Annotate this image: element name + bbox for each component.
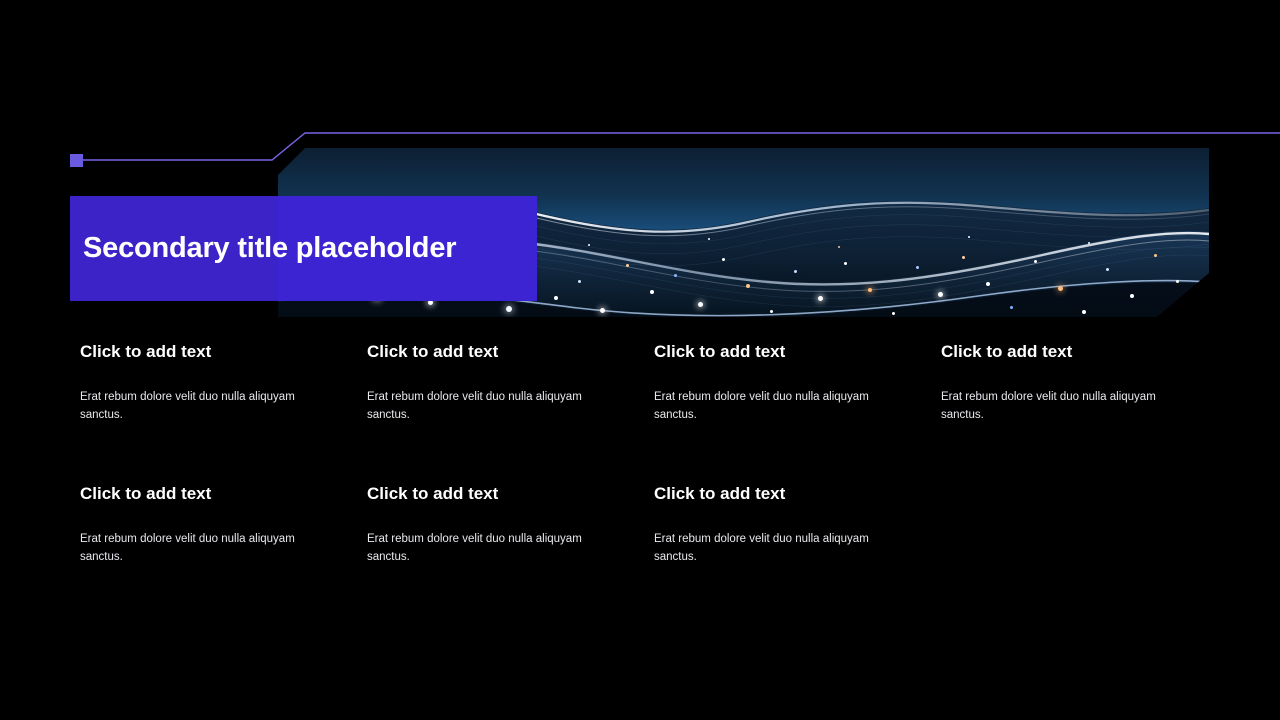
- cell-title[interactable]: Click to add text: [367, 483, 632, 504]
- cell-body[interactable]: Erat rebum dolore velit duo nulla aliquy…: [941, 389, 1191, 425]
- cell-body[interactable]: Erat rebum dolore velit duo nulla aliquy…: [654, 531, 904, 567]
- accent-square-icon: [70, 154, 83, 167]
- content-cell[interactable]: Click to add text Erat rebum dolore veli…: [941, 341, 1206, 425]
- cell-body[interactable]: Erat rebum dolore velit duo nulla aliquy…: [367, 389, 617, 425]
- page-title: Secondary title placeholder: [70, 232, 456, 265]
- secondary-title-band: Secondary title placeholder: [70, 196, 537, 301]
- content-cell[interactable]: Click to add text Erat rebum dolore veli…: [654, 483, 919, 567]
- content-cell[interactable]: Click to add text Erat rebum dolore veli…: [367, 483, 632, 567]
- cell-title[interactable]: Click to add text: [80, 483, 345, 504]
- content-cell[interactable]: Click to add text Erat rebum dolore veli…: [80, 341, 345, 425]
- cell-title[interactable]: Click to add text: [367, 341, 632, 362]
- slide-canvas: Secondary title placeholder Click to add…: [0, 0, 1280, 720]
- content-cell[interactable]: Click to add text Erat rebum dolore veli…: [80, 483, 345, 567]
- cell-title[interactable]: Click to add text: [654, 483, 919, 504]
- content-row-1: Click to add text Erat rebum dolore veli…: [80, 341, 1240, 425]
- cell-title[interactable]: Click to add text: [941, 341, 1206, 362]
- content-row-2: Click to add text Erat rebum dolore veli…: [80, 483, 1240, 567]
- cell-body[interactable]: Erat rebum dolore velit duo nulla aliquy…: [80, 389, 330, 425]
- cell-body[interactable]: Erat rebum dolore velit duo nulla aliquy…: [654, 389, 904, 425]
- cell-body[interactable]: Erat rebum dolore velit duo nulla aliquy…: [80, 531, 330, 567]
- cell-title[interactable]: Click to add text: [654, 341, 919, 362]
- content-cell[interactable]: Click to add text Erat rebum dolore veli…: [367, 341, 632, 425]
- content-grid: Click to add text Erat rebum dolore veli…: [80, 341, 1240, 625]
- cell-title[interactable]: Click to add text: [80, 341, 345, 362]
- cell-body[interactable]: Erat rebum dolore velit duo nulla aliquy…: [367, 531, 617, 567]
- content-cell[interactable]: Click to add text Erat rebum dolore veli…: [654, 341, 919, 425]
